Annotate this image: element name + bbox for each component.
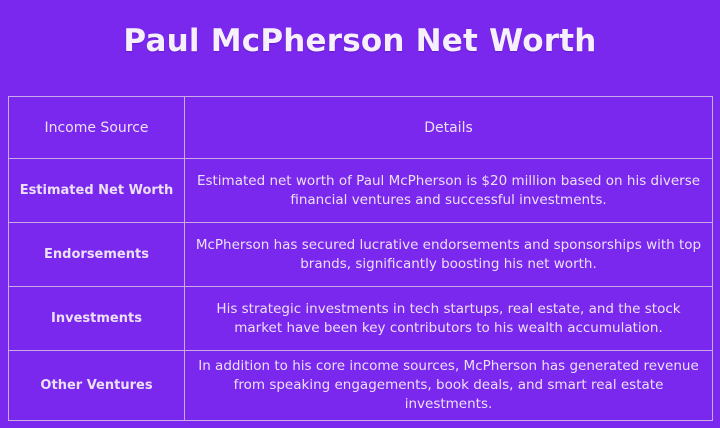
column-header-details: Details [185, 97, 713, 159]
cell-income-source: Estimated Net Worth [9, 159, 185, 223]
cell-income-source: Other Ventures [9, 351, 185, 421]
cell-income-source: Investments [9, 287, 185, 351]
page-root: Paul McPherson Net Worth Income Source D… [0, 0, 720, 428]
column-header-income-source: Income Source [9, 97, 185, 159]
table-body: Estimated Net Worth Estimated net worth … [9, 159, 713, 421]
table-row: Investments His strategic investments in… [9, 287, 713, 351]
net-worth-table-container: Income Source Details Estimated Net Wort… [8, 96, 712, 418]
table-row: Endorsements McPherson has secured lucra… [9, 223, 713, 287]
cell-income-source: Endorsements [9, 223, 185, 287]
table-header: Income Source Details [9, 97, 713, 159]
cell-details: McPherson has secured lucrative endorsem… [185, 223, 713, 287]
cell-details: His strategic investments in tech startu… [185, 287, 713, 351]
cell-details: Estimated net worth of Paul McPherson is… [185, 159, 713, 223]
table-row: Estimated Net Worth Estimated net worth … [9, 159, 713, 223]
cell-details: In addition to his core income sources, … [185, 351, 713, 421]
page-title: Paul McPherson Net Worth [0, 22, 720, 60]
table-header-row: Income Source Details [9, 97, 713, 159]
net-worth-table: Income Source Details Estimated Net Wort… [8, 96, 713, 421]
table-row: Other Ventures In addition to his core i… [9, 351, 713, 421]
